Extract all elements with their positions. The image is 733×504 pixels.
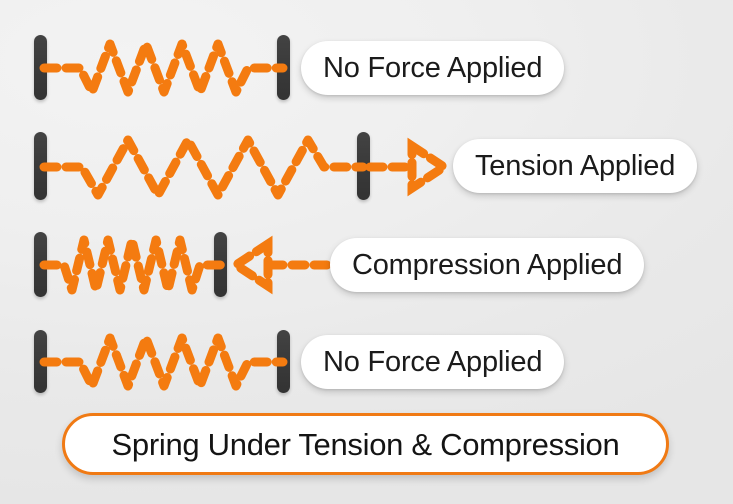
left-post [34,132,47,200]
diagram-title-text: Spring Under Tension & Compression [112,429,620,460]
label-pill-compression: Compression Applied [330,238,644,292]
force-arrow-left [228,232,338,298]
label-text: No Force Applied [301,54,564,83]
right-post [277,35,290,100]
right-post [214,232,227,297]
spring-coil-compressed [40,232,230,298]
label-pill-tension: Tension Applied [453,139,697,193]
left-post [34,232,47,297]
spring-row-compression: Compression Applied [0,200,733,300]
right-post [277,330,290,393]
spring-coil-stretched [40,132,370,202]
right-post [357,132,370,200]
diagram-title-pill: Spring Under Tension & Compression [62,413,669,475]
label-text: Tension Applied [453,152,697,181]
left-post [34,330,47,393]
label-text: Compression Applied [330,251,644,280]
spring-coil-relaxed [40,330,290,394]
force-arrow-right [366,132,456,202]
spring-diagram-canvas: No Force Applied Tension Applied [0,0,733,504]
spring-coil-relaxed [40,35,290,101]
label-text: No Force Applied [301,348,564,377]
label-pill-no-force-top: No Force Applied [301,41,564,95]
spring-row-no-force-bottom: No Force Applied [0,297,733,397]
spring-row-tension: Tension Applied [0,100,733,200]
left-post [34,35,47,100]
label-pill-no-force-bottom: No Force Applied [301,335,564,389]
